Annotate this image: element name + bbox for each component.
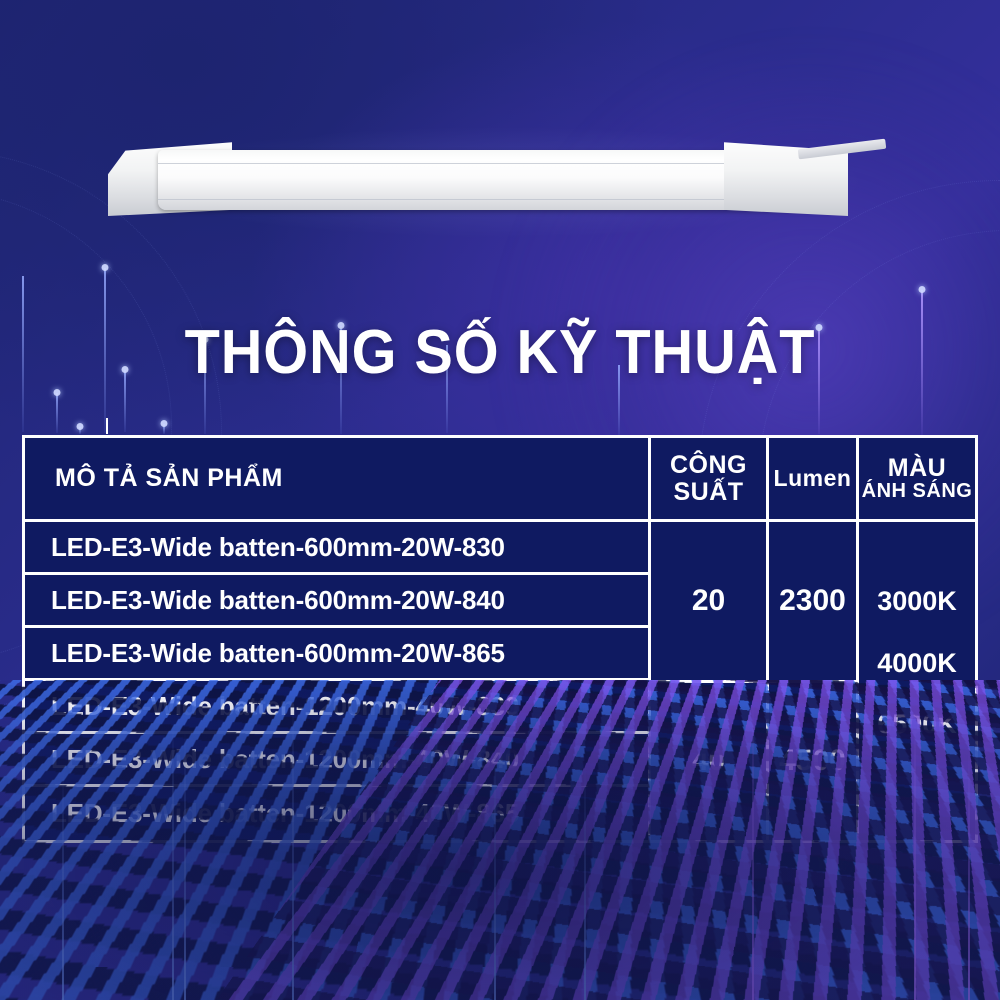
decor-pin-7	[163, 424, 165, 434]
table-row: LED-E3-Wide batten-600mm-20W-865	[25, 628, 648, 681]
header-power-line1: CÔNG	[670, 452, 747, 479]
bottom-mesh-texture	[0, 680, 1000, 1000]
header-color-line2: ÁNH SÁNG	[862, 481, 973, 502]
lumen-value-group-1: 2300	[769, 522, 856, 683]
header-color-temperature: MÀU ÁNH SÁNG	[859, 438, 975, 522]
header-lumen: Lumen	[769, 438, 856, 522]
decor-pin-2	[22, 276, 24, 432]
product-spec-banner: THÔNG SỐ KỸ THUẬT MÔ TẢ SẢN PHẨM LED-E3-…	[0, 0, 1000, 1000]
header-description: MÔ TẢ SẢN PHẨM	[25, 438, 648, 522]
decor-pin-3	[56, 393, 58, 433]
table-row: LED-E3-Wide batten-600mm-20W-840	[25, 575, 648, 628]
page-title: THÔNG SỐ KỸ THUẬT	[35, 322, 965, 384]
table-row: LED-E3-Wide batten-600mm-20W-830	[25, 522, 648, 575]
decor-pin-6	[79, 427, 81, 434]
header-color-line1: MÀU	[888, 455, 946, 482]
decor-pin-5	[106, 418, 108, 434]
product-image	[108, 140, 878, 222]
header-power: CÔNG SUẤT	[651, 438, 766, 522]
mesh-vignette	[0, 680, 1000, 1000]
header-power-line2: SUẤT	[673, 479, 743, 506]
color-temperature-value: 3000K	[877, 586, 957, 617]
power-value-group-1: 20	[651, 522, 766, 683]
color-temperature-value: 4000K	[877, 648, 957, 679]
